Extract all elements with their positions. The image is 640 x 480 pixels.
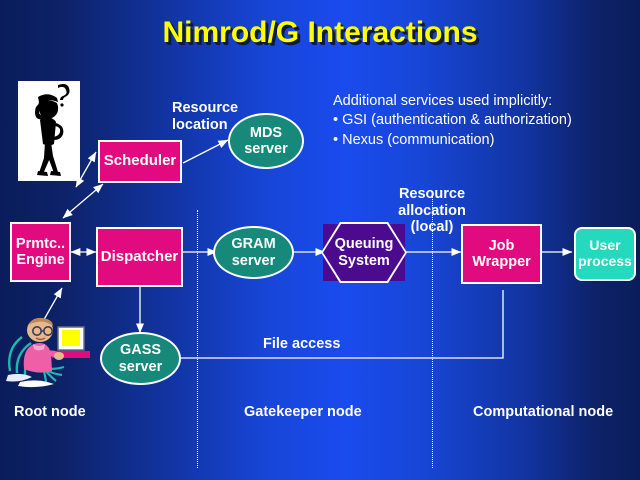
additional-services-bullet-gsi: • GSI (authentication & authorization) (333, 111, 572, 130)
zone-label-computational-node: Computational node (473, 404, 613, 420)
node-user-process[interactable]: User process (574, 227, 636, 281)
node-job-wrapper[interactable]: Job Wrapper (461, 224, 542, 284)
node-prmtc-label-line1: Prmtc.. (16, 236, 65, 252)
node-userprocess-label-line1: User (589, 238, 620, 254)
node-jobwrapper-label-line1: Job (489, 238, 515, 254)
node-scheduler[interactable]: Scheduler (98, 140, 182, 183)
thinking-person-icon (18, 81, 80, 181)
node-gram-label-line2: server (232, 253, 276, 269)
resource-location-line1: Resource (172, 100, 238, 117)
resource-allocation-line2: allocation (386, 203, 478, 220)
zone-label-root-node: Root node (14, 404, 86, 420)
edge-prmtc-scheduler (63, 184, 103, 218)
node-scheduler-label: Scheduler (104, 153, 177, 170)
edge-label-file-access: File access (263, 336, 340, 353)
zone-divider-gatekeeper-computational (432, 196, 433, 468)
node-queuing-label-line2: System (338, 253, 390, 269)
node-dispatcher-label: Dispatcher (101, 249, 179, 266)
additional-services-note: Additional services used implicitly: • G… (333, 92, 572, 150)
node-jobwrapper-label-line2: Wrapper (472, 254, 531, 270)
node-dispatcher[interactable]: Dispatcher (96, 227, 183, 287)
user-at-computer-icon (6, 311, 90, 389)
node-prmtc-engine[interactable]: Prmtc.. Engine (10, 222, 71, 282)
node-gass-label-line2: server (119, 359, 163, 375)
node-gass-server[interactable]: GASS server (100, 332, 181, 385)
resource-allocation-line1: Resource (386, 186, 478, 203)
node-mds-label-line1: MDS (250, 125, 282, 141)
zone-divider-root-gatekeeper (197, 210, 198, 468)
edge-scheduler-mds (183, 140, 228, 163)
node-prmtc-label-line2: Engine (16, 252, 64, 268)
node-mds-server[interactable]: MDS server (228, 113, 304, 169)
node-gram-server[interactable]: GRAM server (213, 226, 294, 279)
additional-services-bullet-nexus: • Nexus (communication) (333, 131, 572, 150)
resource-location-line2: location (172, 117, 238, 134)
node-gram-label-line1: GRAM (231, 236, 275, 252)
node-queuing-label-line1: Queuing (335, 236, 394, 252)
node-queuing-label: Queuing System (335, 236, 394, 268)
slide-canvas: Nimrod/G Interactions (0, 0, 640, 480)
additional-services-heading: Additional services used implicitly: (333, 92, 572, 111)
node-gass-label-line1: GASS (120, 342, 161, 358)
edge-label-resource-location: Resource location (172, 100, 238, 133)
node-mds-label-line2: server (244, 141, 288, 157)
zone-label-gatekeeper-node: Gatekeeper node (244, 404, 362, 420)
node-queuing-system[interactable]: Queuing System (323, 224, 405, 281)
page-title: Nimrod/G Interactions (0, 16, 640, 50)
node-userprocess-label-line2: process (578, 254, 632, 270)
edge-file-access (181, 290, 503, 358)
